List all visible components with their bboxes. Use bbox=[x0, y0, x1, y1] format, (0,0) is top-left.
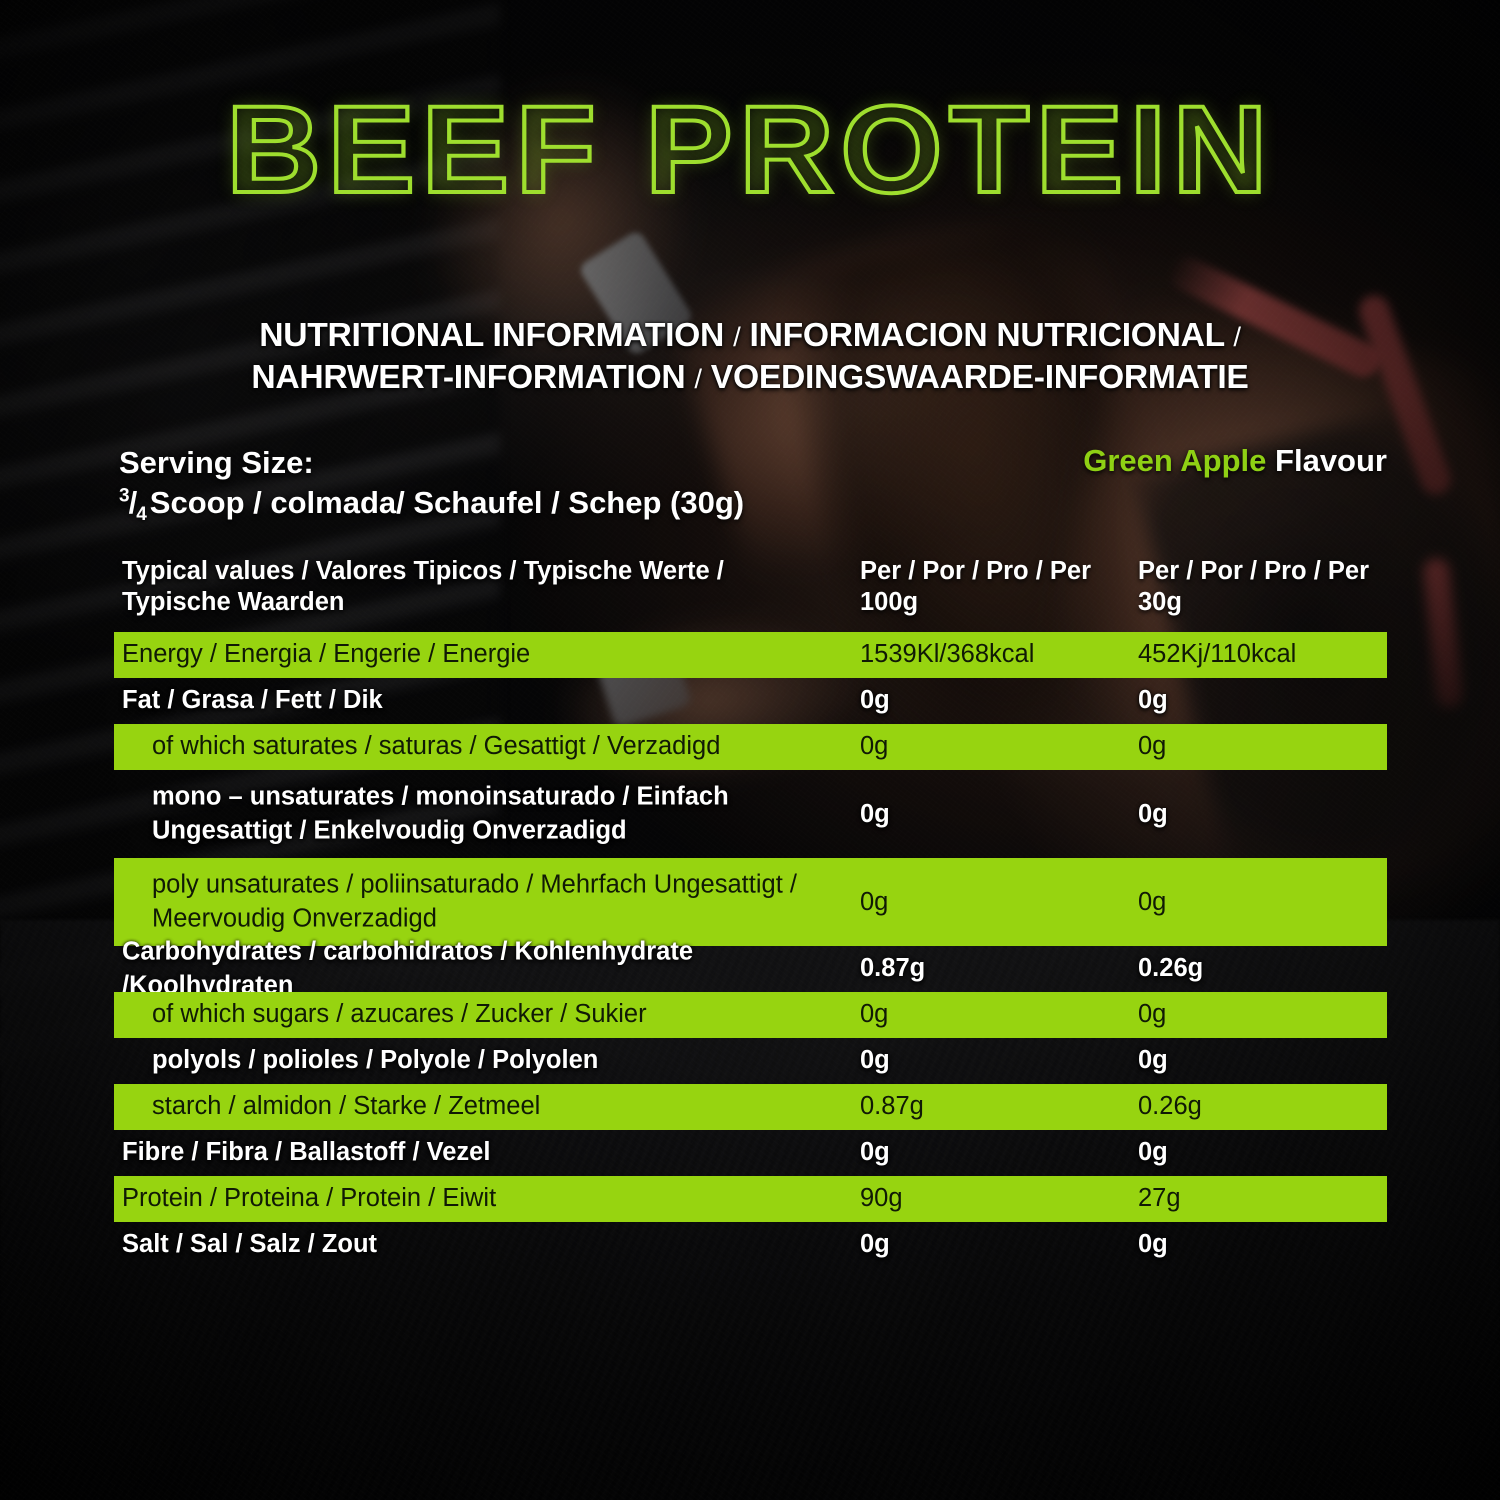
row-label-line-1: Fat / Grasa / Fett / Dik bbox=[122, 684, 862, 718]
row-label-line-1: Salt / Sal / Salz / Zout bbox=[122, 1228, 862, 1262]
row-label-line-1: of which sugars / azucares / Zucker / Su… bbox=[152, 998, 862, 1032]
row-label: mono – unsaturates / monoinsaturado / Ei… bbox=[152, 780, 862, 847]
section-heading: NUTRITIONAL INFORMATION / INFORMACION NU… bbox=[0, 314, 1500, 397]
row-label-line-1: mono – unsaturates / monoinsaturado / Ei… bbox=[152, 780, 862, 814]
row-value-per-30g: 0g bbox=[1138, 684, 1388, 718]
label-content: BEEF PROTEIN NUTRITIONAL INFORMATION / I… bbox=[0, 0, 1500, 1500]
row-label-line-1: Protein / Proteina / Protein / Eiwit bbox=[122, 1182, 862, 1216]
row-value-per-100g: 0.87g bbox=[860, 952, 1135, 986]
row-value-per-30g: 0.26g bbox=[1138, 952, 1388, 986]
table-row: Energy / Energia / Engerie / Energie1539… bbox=[114, 632, 1387, 678]
row-value-per-100g: 0g bbox=[860, 1044, 1135, 1078]
row-label: starch / almidon / Starke / Zetmeel bbox=[152, 1090, 862, 1124]
nutrition-table-header: Typical values / Valores Tipicos / Typis… bbox=[114, 548, 1387, 632]
heading-nutritional-information-en: NUTRITIONAL INFORMATION bbox=[259, 316, 724, 353]
row-label: poly unsaturates / poliinsaturado / Mehr… bbox=[152, 868, 862, 935]
header-per-100g: Per / Por / Pro / Per 100g bbox=[860, 556, 1130, 618]
table-row: of which saturates / saturas / Gesattigt… bbox=[114, 724, 1387, 770]
header-per-100g-line-2: 100g bbox=[860, 587, 1130, 618]
header-typical-values-line-2: Typische Waarden bbox=[122, 587, 862, 618]
row-label-line-1: poly unsaturates / poliinsaturado / Mehr… bbox=[152, 868, 862, 902]
row-value-per-30g: 0g bbox=[1138, 730, 1388, 764]
heading-slash-3: / bbox=[694, 364, 701, 394]
table-row: Salt / Sal / Salz / Zout0g0g bbox=[114, 1222, 1387, 1268]
row-label-line-1: Energy / Energia / Engerie / Energie bbox=[122, 638, 862, 672]
heading-slash-2: / bbox=[1233, 322, 1240, 352]
serving-size-value: Scoop / colmada/ Schaufel / Schep (30g) bbox=[150, 485, 744, 520]
fraction-denominator: 4 bbox=[136, 504, 146, 525]
row-label-line-1: polyols / polioles / Polyole / Polyolen bbox=[152, 1044, 862, 1078]
row-value-per-30g: 27g bbox=[1138, 1182, 1388, 1216]
row-value-per-100g: 0g bbox=[860, 886, 1135, 920]
product-title: BEEF PROTEIN bbox=[0, 88, 1500, 212]
row-label-line-1: starch / almidon / Starke / Zetmeel bbox=[152, 1090, 862, 1124]
fraction-numerator: 3 bbox=[119, 485, 129, 506]
table-row: polyols / polioles / Polyole / Polyolen0… bbox=[114, 1038, 1387, 1084]
header-typical-values: Typical values / Valores Tipicos / Typis… bbox=[122, 556, 862, 618]
section-heading-line-2: NAHRWERT-INFORMATION / VOEDINGSWAARDE-IN… bbox=[0, 356, 1500, 398]
row-label: Salt / Sal / Salz / Zout bbox=[122, 1228, 862, 1262]
row-value-per-100g: 0g bbox=[860, 1136, 1135, 1170]
row-value-per-30g: 0g bbox=[1138, 998, 1388, 1032]
row-label-line-2: Ungesattigt / Enkelvoudig Onverzadigd bbox=[152, 814, 862, 848]
header-typical-values-line-1: Typical values / Valores Tipicos / Typis… bbox=[122, 556, 862, 587]
row-label: of which saturates / saturas / Gesattigt… bbox=[152, 730, 862, 764]
row-label-line-1: Fibre / Fibra / Ballastoff / Vezel bbox=[122, 1136, 862, 1170]
row-label: Protein / Proteina / Protein / Eiwit bbox=[122, 1182, 862, 1216]
nutrition-table: Typical values / Valores Tipicos / Typis… bbox=[114, 548, 1387, 1268]
flavour-label: Green Apple Flavour bbox=[1083, 443, 1387, 479]
nutrition-label-page: BEEF PROTEIN NUTRITIONAL INFORMATION / I… bbox=[0, 0, 1500, 1500]
row-value-per-100g: 1539Kl/368kcal bbox=[860, 638, 1135, 672]
row-value-per-100g: 0g bbox=[860, 998, 1135, 1032]
header-per-30g-line-1: Per / Por / Pro / Per bbox=[1138, 556, 1388, 587]
header-per-100g-line-1: Per / Por / Pro / Per bbox=[860, 556, 1130, 587]
row-label-line-1: of which saturates / saturas / Gesattigt… bbox=[152, 730, 862, 764]
table-row: starch / almidon / Starke / Zetmeel0.87g… bbox=[114, 1084, 1387, 1130]
flavour-word: Flavour bbox=[1275, 443, 1387, 478]
heading-nutritional-information-nl: VOEDINGSWAARDE-INFORMATIE bbox=[711, 358, 1249, 395]
serving-size-block: Serving Size: 3/4Scoop / colmada/ Schauf… bbox=[119, 443, 744, 527]
table-row: mono – unsaturates / monoinsaturado / Ei… bbox=[114, 770, 1387, 858]
row-value-per-30g: 0g bbox=[1138, 798, 1388, 832]
row-value-per-30g: 0g bbox=[1138, 1136, 1388, 1170]
table-row: Carbohydrates / carbohidratos / Kohlenhy… bbox=[114, 946, 1387, 992]
header-per-30g-line-2: 30g bbox=[1138, 587, 1388, 618]
row-value-per-100g: 0g bbox=[860, 1228, 1135, 1262]
table-row: Fat / Grasa / Fett / Dik0g0g bbox=[114, 678, 1387, 724]
serving-size-label: Serving Size: bbox=[119, 443, 744, 483]
row-label: Fat / Grasa / Fett / Dik bbox=[122, 684, 862, 718]
row-value-per-100g: 90g bbox=[860, 1182, 1135, 1216]
serving-size-value-row: 3/4Scoop / colmada/ Schaufel / Schep (30… bbox=[119, 483, 744, 528]
serving-size-fraction: 3/4 bbox=[119, 485, 146, 520]
row-label-line-2: Meervoudig Onverzadigd bbox=[152, 902, 862, 936]
nutrition-table-body: Energy / Energia / Engerie / Energie1539… bbox=[114, 632, 1387, 1268]
row-value-per-30g: 452Kj/110kcal bbox=[1138, 638, 1388, 672]
table-row: Fibre / Fibra / Ballastoff / Vezel0g0g bbox=[114, 1130, 1387, 1176]
table-row: of which sugars / azucares / Zucker / Su… bbox=[114, 992, 1387, 1038]
row-label: of which sugars / azucares / Zucker / Su… bbox=[152, 998, 862, 1032]
row-value-per-30g: 0.26g bbox=[1138, 1090, 1388, 1124]
row-value-per-30g: 0g bbox=[1138, 1228, 1388, 1262]
row-value-per-100g: 0g bbox=[860, 730, 1135, 764]
row-value-per-30g: 0g bbox=[1138, 1044, 1388, 1078]
row-value-per-30g: 0g bbox=[1138, 886, 1388, 920]
table-row: poly unsaturates / poliinsaturado / Mehr… bbox=[114, 858, 1387, 946]
heading-nutritional-information-es: INFORMACION NUTRICIONAL bbox=[750, 316, 1225, 353]
section-heading-line-1: NUTRITIONAL INFORMATION / INFORMACION NU… bbox=[0, 314, 1500, 356]
header-per-30g: Per / Por / Pro / Per 30g bbox=[1138, 556, 1388, 618]
table-row: Protein / Proteina / Protein / Eiwit90g2… bbox=[114, 1176, 1387, 1222]
row-value-per-100g: 0.87g bbox=[860, 1090, 1135, 1124]
row-label: Fibre / Fibra / Ballastoff / Vezel bbox=[122, 1136, 862, 1170]
row-label: Energy / Energia / Engerie / Energie bbox=[122, 638, 862, 672]
row-label: polyols / polioles / Polyole / Polyolen bbox=[152, 1044, 862, 1078]
row-value-per-100g: 0g bbox=[860, 798, 1135, 832]
heading-slash-1: / bbox=[733, 322, 740, 352]
flavour-name: Green Apple bbox=[1083, 443, 1266, 478]
row-value-per-100g: 0g bbox=[860, 684, 1135, 718]
heading-nutritional-information-de: NAHRWERT-INFORMATION bbox=[251, 358, 685, 395]
